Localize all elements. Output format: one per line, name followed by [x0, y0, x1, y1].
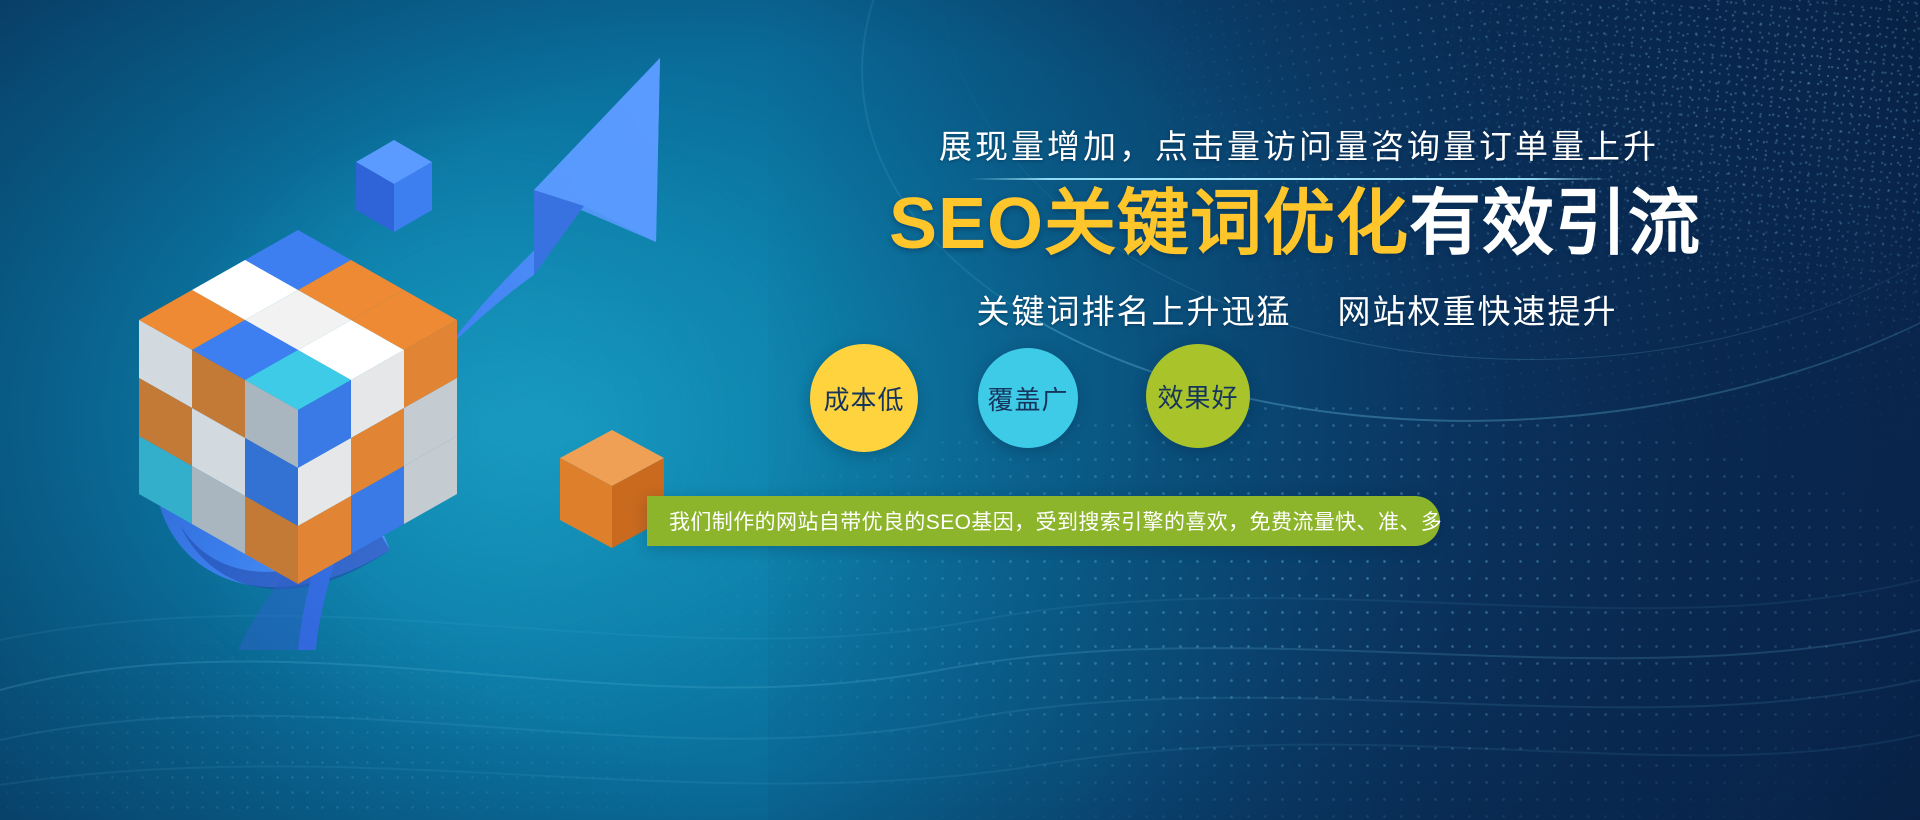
status-badge[interactable]: 覆盖广 — [978, 348, 1078, 448]
growth-arrow-graphic — [60, 30, 780, 690]
subtitle: 关键词排名上升迅猛网站权重快速提升 — [714, 285, 1880, 333]
feature-badges: 成本低 覆盖广 效果好 — [810, 344, 1450, 452]
headline-rest: 有效引流 — [1409, 184, 1701, 264]
badge-label: 覆盖广 — [987, 380, 1068, 417]
tagline: 展现量增加，点击量访问量咨询量订单量上升 — [718, 120, 1880, 178]
seo-promo-banner: 展现量增加，点击量访问量咨询量订单量上升 SEO关键词优化有效引流 关键词排名上… — [0, 0, 1920, 820]
divider-rule — [970, 178, 1610, 180]
badge-label: 成本低 — [823, 380, 904, 417]
status-badge[interactable]: 成本低 — [810, 344, 918, 452]
footer-banner-bar: 我们制作的网站自带优良的SEO基因，受到搜索引擎的喜欢，免费流量快、准、多 — [647, 496, 1440, 546]
small-blue-cube — [356, 140, 432, 232]
headline-block: 展现量增加，点击量访问量咨询量订单量上升 SEO关键词优化有效引流 关键词排名上… — [700, 120, 1880, 333]
subtitle-right: 网站权重快速提升 — [1338, 293, 1618, 330]
footer-banner-text: 我们制作的网站自带优良的SEO基因，受到搜索引擎的喜欢，免费流量快、准、多 — [669, 506, 1442, 536]
badge-label: 效果好 — [1157, 378, 1238, 415]
page-title: SEO关键词优化有效引流 — [710, 184, 1880, 265]
subtitle-left: 关键词排名上升迅猛 — [977, 293, 1292, 330]
headline-highlight: SEO关键词优化 — [889, 184, 1409, 264]
status-badge[interactable]: 效果好 — [1146, 344, 1250, 448]
